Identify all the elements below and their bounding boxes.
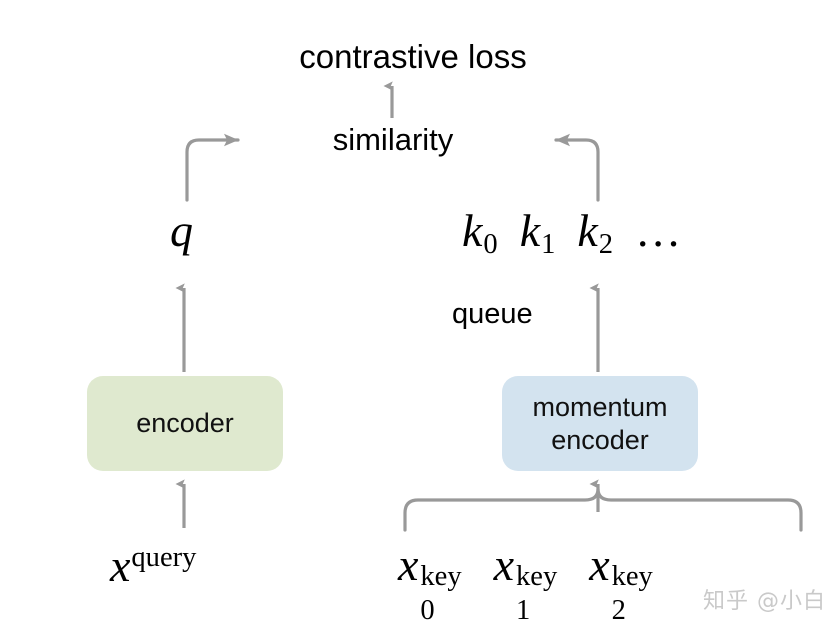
x-key-symbol-2: xkey2 xyxy=(589,542,653,620)
momentum-encoder-box[interactable]: momentum encoder xyxy=(502,376,698,471)
contrastive-loss-label: contrastive loss xyxy=(0,40,826,73)
query-symbol: q xyxy=(170,208,193,254)
momentum-encoder-box-label: momentum encoder xyxy=(532,391,667,457)
queue-label: queue xyxy=(452,300,533,329)
key-symbol-1: k1 xyxy=(520,208,556,254)
key-symbols-ellipsis: … xyxy=(635,208,684,254)
similarity-label: similarity xyxy=(0,124,786,155)
x-query-symbol: xquery xyxy=(110,542,196,589)
moco-architecture-diagram: contrastive loss similarity queue q k0 k… xyxy=(0,0,826,634)
encoder-box-label: encoder xyxy=(136,407,234,440)
x-key-symbol-1: xkey1 xyxy=(494,542,558,620)
key-symbols-row: k0 k1 k2 … xyxy=(462,208,684,254)
x-key-symbol-0: xkey0 xyxy=(398,542,462,620)
key-symbol-0: k0 xyxy=(462,208,498,254)
key-inputs-brace xyxy=(405,489,801,530)
watermark: 知乎 @小白 xyxy=(703,583,826,615)
x-key-symbols-row: xkey0 xkey1 xkey2 xyxy=(398,542,653,620)
key-symbol-2: k2 xyxy=(577,208,613,254)
encoder-box[interactable]: encoder xyxy=(87,376,283,471)
